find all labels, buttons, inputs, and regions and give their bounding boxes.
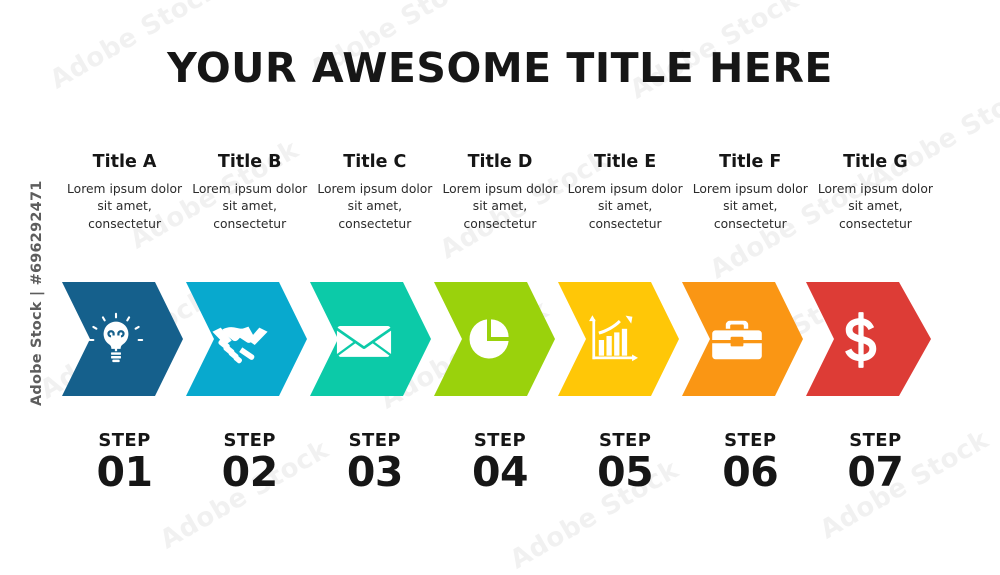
infographic-slide: Adobe Stock Adobe Stock Adobe Stock Adob… bbox=[0, 0, 1000, 563]
chevron-step-2[interactable] bbox=[186, 282, 307, 396]
column-description: Lorem ipsum dolor sit amet, consectetur bbox=[189, 181, 310, 233]
column-item: Title A Lorem ipsum dolor sit amet, cons… bbox=[62, 152, 187, 247]
step-number: 06 bbox=[688, 450, 813, 496]
column-title: Title C bbox=[314, 152, 435, 172]
column-title: Title E bbox=[565, 152, 686, 172]
column-description: Lorem ipsum dolor sit amet, consectetur bbox=[439, 181, 560, 233]
page-title: YOUR AWESOME TITLE HERE bbox=[0, 44, 1000, 92]
column-item: Title E Lorem ipsum dolor sit amet, cons… bbox=[563, 152, 688, 247]
column-description: Lorem ipsum dolor sit amet, consectetur bbox=[815, 181, 936, 233]
step-item: STEP 03 bbox=[312, 432, 437, 496]
chevron-step-5[interactable] bbox=[558, 282, 679, 396]
chevron-shape bbox=[434, 282, 555, 396]
step-number-row: STEP 01 STEP 02 STEP 03 STEP 04 STEP 05 … bbox=[62, 432, 938, 496]
column-title: Title B bbox=[189, 152, 310, 172]
chevron-step-7[interactable] bbox=[806, 282, 931, 396]
column-item: Title F Lorem ipsum dolor sit amet, cons… bbox=[688, 152, 813, 247]
column-description: Lorem ipsum dolor sit amet, consectetur bbox=[690, 181, 811, 233]
step-number: 03 bbox=[312, 450, 437, 496]
step-number: 07 bbox=[813, 450, 938, 496]
column-title: Title F bbox=[690, 152, 811, 172]
chevron-step-6[interactable] bbox=[682, 282, 803, 396]
column-item: Title D Lorem ipsum dolor sit amet, cons… bbox=[437, 152, 562, 247]
chevron-shape bbox=[682, 282, 803, 396]
column-title: Title G bbox=[815, 152, 936, 172]
chevron-arrow-band bbox=[0, 280, 1000, 398]
step-number: 01 bbox=[62, 450, 187, 496]
column-item: Title B Lorem ipsum dolor sit amet, cons… bbox=[187, 152, 312, 247]
step-item: STEP 01 bbox=[62, 432, 187, 496]
column-title: Title A bbox=[64, 152, 185, 172]
column-text-row: Title A Lorem ipsum dolor sit amet, cons… bbox=[62, 152, 938, 247]
column-title: Title D bbox=[439, 152, 560, 172]
step-item: STEP 07 bbox=[813, 432, 938, 496]
step-number: 05 bbox=[563, 450, 688, 496]
column-description: Lorem ipsum dolor sit amet, consectetur bbox=[64, 181, 185, 233]
chevron-step-4[interactable] bbox=[434, 282, 555, 396]
chevron-step-1[interactable] bbox=[62, 282, 183, 396]
step-number: 04 bbox=[437, 450, 562, 496]
step-number: 02 bbox=[187, 450, 312, 496]
column-description: Lorem ipsum dolor sit amet, consectetur bbox=[314, 181, 435, 233]
column-item: Title G Lorem ipsum dolor sit amet, cons… bbox=[813, 152, 938, 247]
step-item: STEP 06 bbox=[688, 432, 813, 496]
step-item: STEP 02 bbox=[187, 432, 312, 496]
envelope-icon bbox=[337, 326, 391, 357]
chevron-step-3[interactable] bbox=[310, 282, 431, 396]
step-item: STEP 04 bbox=[437, 432, 562, 496]
step-item: STEP 05 bbox=[563, 432, 688, 496]
column-item: Title C Lorem ipsum dolor sit amet, cons… bbox=[312, 152, 437, 247]
column-description: Lorem ipsum dolor sit amet, consectetur bbox=[565, 181, 686, 233]
